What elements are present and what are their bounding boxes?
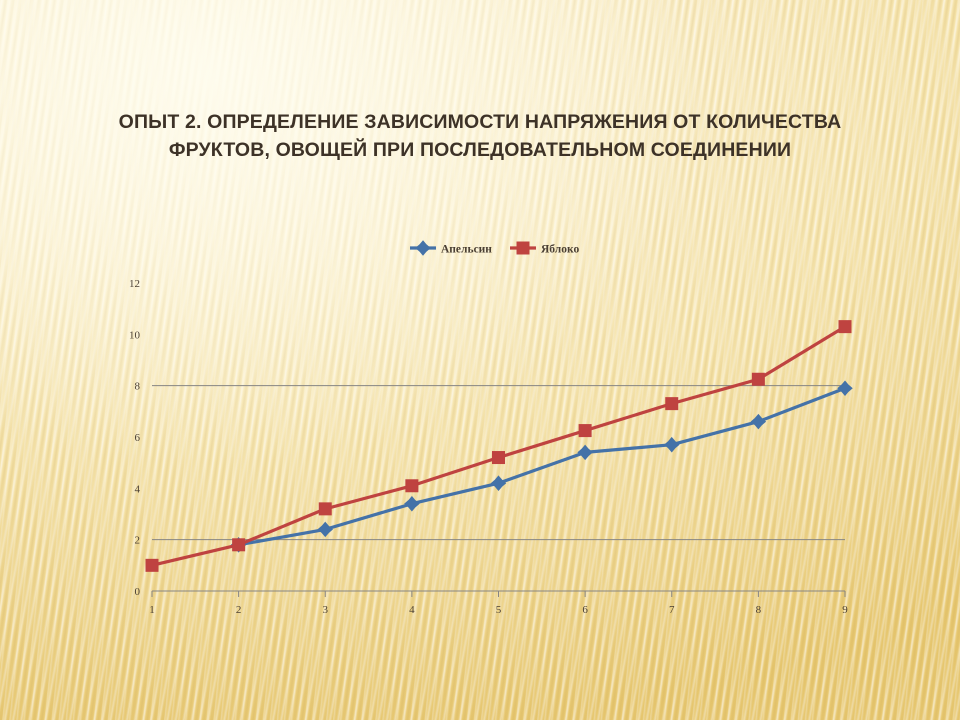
data-point-marker xyxy=(752,373,764,385)
x-axis-tick-label: 7 xyxy=(669,604,675,616)
slide-title-line-2: ФРУКТОВ, ОВОЩЕЙ ПРИ ПОСЛЕДОВАТЕЛЬНОМ СОЕ… xyxy=(169,139,791,161)
slide-title: ОПЫТ 2. ОПРЕДЕЛЕНИЕ ЗАВИСИМОСТИ НАПРЯЖЕН… xyxy=(60,109,900,164)
x-axis-tick-label: 3 xyxy=(323,604,329,616)
data-point-marker xyxy=(493,452,505,464)
chart-legend: АпельсинЯблоко xyxy=(410,241,579,256)
y-axis-tick-labels: 024681012 xyxy=(129,278,141,598)
data-point-marker xyxy=(318,522,332,536)
x-axis-tick-label: 4 xyxy=(409,604,415,616)
data-point-marker xyxy=(319,503,331,515)
chart-canvas: АпельсинЯблоко 024681012 123456789 xyxy=(70,228,890,628)
data-point-marker xyxy=(579,425,591,437)
data-point-marker xyxy=(146,559,158,571)
data-point-marker xyxy=(839,321,851,333)
data-point-marker xyxy=(406,480,418,492)
y-axis-tick-label: 6 xyxy=(135,432,141,444)
data-point-marker xyxy=(578,445,592,459)
presentation-slide: ОПЫТ 2. ОПРЕДЕЛЕНИЕ ЗАВИСИМОСТИ НАПРЯЖЕН… xyxy=(0,0,960,720)
x-axis-tick-label: 5 xyxy=(496,604,502,616)
series-line xyxy=(152,327,845,566)
legend-label: Яблоко xyxy=(541,244,579,256)
data-point-marker xyxy=(751,415,765,429)
x-axis-tick-label: 8 xyxy=(756,604,762,616)
series-line xyxy=(239,388,845,545)
slide-title-line-1: ОПЫТ 2. ОПРЕДЕЛЕНИЕ ЗАВИСИМОСТИ НАПРЯЖЕН… xyxy=(119,111,842,133)
y-axis-tick-label: 0 xyxy=(135,586,141,598)
chart-series xyxy=(146,321,851,572)
line-chart: АпельсинЯблоко 024681012 123456789 xyxy=(70,228,890,628)
x-axis-tick-labels: 123456789 xyxy=(149,604,848,616)
y-axis-tick-label: 2 xyxy=(135,535,141,547)
data-point-marker xyxy=(517,242,529,254)
data-point-marker xyxy=(405,497,419,511)
data-point-marker xyxy=(665,438,679,452)
y-axis-tick-label: 8 xyxy=(135,381,141,393)
x-axis-tick-label: 2 xyxy=(236,604,242,616)
x-axis-ticks xyxy=(152,591,845,597)
chart-series-group xyxy=(146,321,852,572)
legend-label: Апельсин xyxy=(441,244,492,256)
y-axis-tick-label: 4 xyxy=(135,483,141,495)
chart-series xyxy=(232,381,852,552)
y-axis-tick-label: 12 xyxy=(129,278,140,290)
x-axis-tick-label: 6 xyxy=(582,604,588,616)
data-point-marker xyxy=(416,241,430,255)
data-point-marker xyxy=(492,476,506,490)
y-axis-tick-label: 10 xyxy=(129,329,141,341)
data-point-marker xyxy=(666,398,678,410)
x-axis-tick-label: 9 xyxy=(842,604,848,616)
data-point-marker xyxy=(838,381,852,395)
data-point-marker xyxy=(233,539,245,551)
x-axis-tick-label: 1 xyxy=(149,604,155,616)
